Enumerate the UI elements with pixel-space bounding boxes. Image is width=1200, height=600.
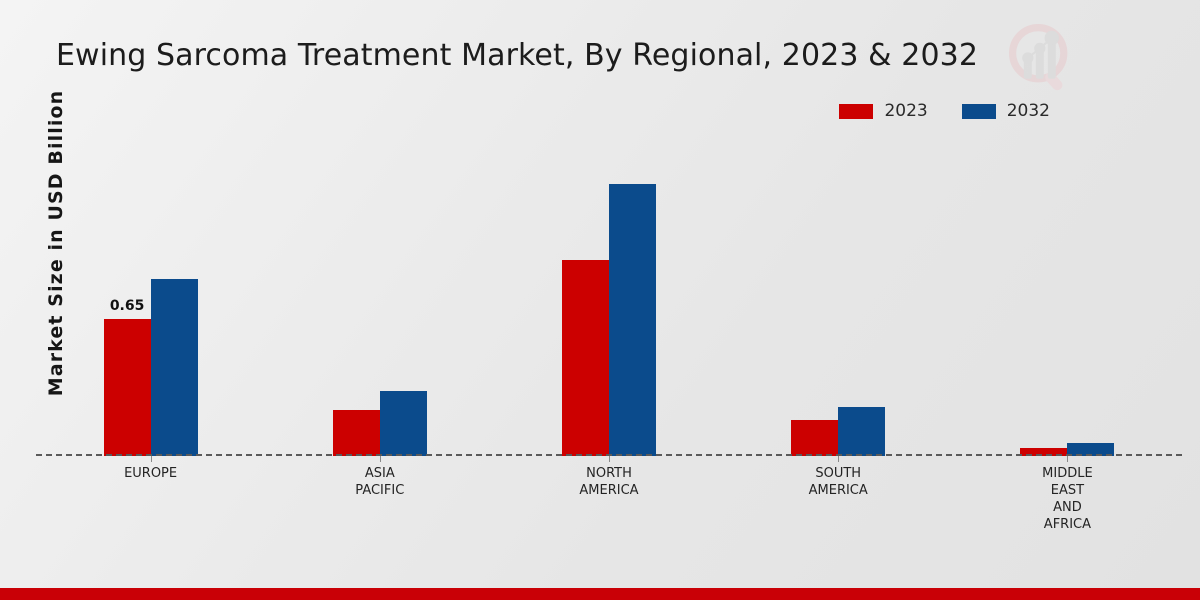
- footer-stripe: [0, 588, 1200, 600]
- bar-2032[interactable]: [838, 407, 885, 456]
- bar-2032[interactable]: [609, 184, 656, 456]
- legend-swatch-2032: [962, 104, 996, 119]
- bar-value-label: 0.65: [110, 298, 145, 314]
- chart-legend: 2023 2032: [839, 103, 1050, 120]
- x-axis-label: EUROPE: [124, 465, 177, 482]
- legend-item-2032[interactable]: 2032: [962, 103, 1050, 120]
- bar-group: NORTH AMERICA: [494, 150, 723, 456]
- bar-2023[interactable]: [333, 410, 380, 456]
- bar-2032[interactable]: [151, 279, 198, 456]
- chart-container: Ewing Sarcoma Treatment Market, By Regio…: [0, 0, 1200, 600]
- legend-item-2023[interactable]: 2023: [839, 103, 927, 120]
- bar-2023[interactable]: 0.65: [104, 319, 151, 456]
- bar-groups: 0.65EUROPEASIA PACIFICNORTH AMERICASOUTH…: [36, 150, 1182, 456]
- x-axis-label: MIDDLE EAST AND AFRICA: [1042, 465, 1093, 533]
- axis-baseline: [36, 454, 1182, 456]
- plot-area: 0.65EUROPEASIA PACIFICNORTH AMERICASOUTH…: [36, 150, 1182, 456]
- x-axis-label: SOUTH AMERICA: [809, 465, 868, 499]
- x-axis-label: NORTH AMERICA: [579, 465, 638, 499]
- bar-pair: 0.65: [104, 279, 198, 456]
- watermark-logo-icon: [1003, 18, 1083, 98]
- legend-label-2023: 2023: [884, 103, 927, 120]
- bar-group: 0.65EUROPE: [36, 150, 265, 456]
- axis-tick: [838, 456, 839, 462]
- bar-pair: [791, 407, 885, 456]
- bar-group: SOUTH AMERICA: [724, 150, 953, 456]
- chart-title: Ewing Sarcoma Treatment Market, By Regio…: [56, 38, 978, 73]
- axis-tick: [151, 456, 152, 462]
- axis-tick: [609, 456, 610, 462]
- bar-group: MIDDLE EAST AND AFRICA: [953, 150, 1182, 456]
- legend-swatch-2023: [839, 104, 873, 119]
- bar-2023[interactable]: [791, 420, 838, 456]
- bar-group: ASIA PACIFIC: [265, 150, 494, 456]
- bar-2032[interactable]: [380, 391, 427, 456]
- axis-tick: [1067, 456, 1068, 462]
- bar-pair: [333, 391, 427, 456]
- x-axis-label: ASIA PACIFIC: [355, 465, 404, 499]
- axis-tick: [380, 456, 381, 462]
- legend-label-2032: 2032: [1007, 103, 1050, 120]
- bar-2023[interactable]: [562, 260, 609, 456]
- bar-pair: [562, 184, 656, 456]
